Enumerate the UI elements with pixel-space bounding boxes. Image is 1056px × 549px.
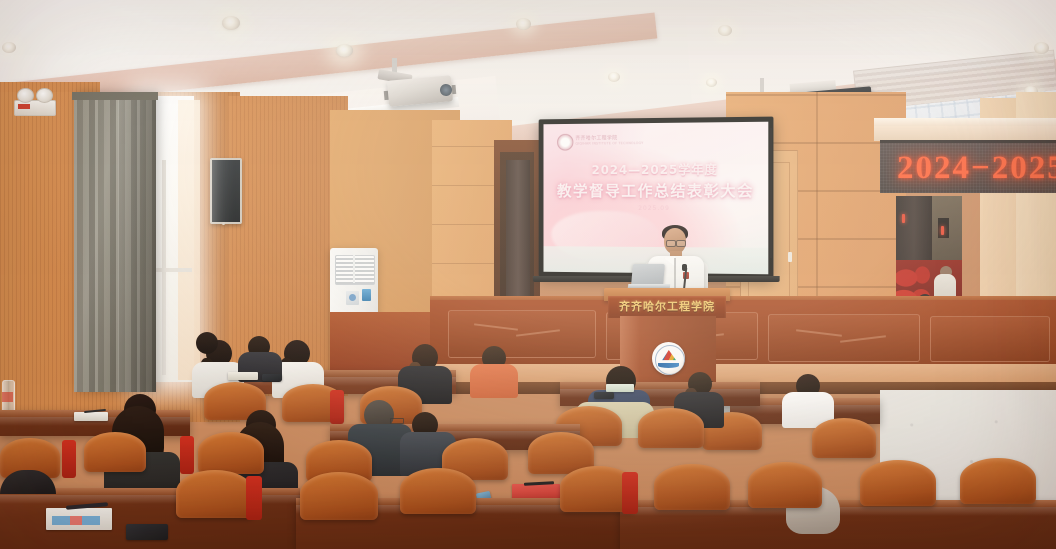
projection-screen: 齐齐哈尔工程学院 QIQIHAR INSTITUTE OF TECHNOLOGY… [539,117,774,280]
microphone-icon [682,264,687,271]
seat[interactable] [400,468,476,514]
seat[interactable] [960,458,1036,504]
seat-side-panel [62,440,76,478]
downlight-icon [516,18,531,30]
seat[interactable] [812,418,876,458]
projection-screen-surface: 齐齐哈尔工程学院 QIQIHAR INSTITUTE OF TECHNOLOGY… [543,122,768,275]
notebook [606,384,634,392]
screen-title-line1: 2024—2025学年度 [543,160,768,178]
glasses-icon [676,240,686,247]
stage-front-wall [430,300,1056,366]
seat[interactable] [748,462,822,508]
ac-grille-divider [353,255,355,283]
notebook [74,412,108,421]
emergency-lamp-icon [36,88,53,103]
downlight-icon [2,42,16,53]
seat[interactable] [654,464,730,510]
exit-led-icon [941,226,944,235]
downlight-icon [608,72,620,82]
screen-cable [770,128,772,258]
downlight-icon [718,25,732,36]
conference-hall-photo: 齐齐哈尔工程学院 QIQIHAR INSTITUTE OF TECHNOLOGY… [0,0,1056,549]
person-head [196,332,218,354]
exit-led-icon [902,214,905,223]
notebook-cover-art [52,516,100,525]
ac-energy-label [362,289,371,301]
curtain-rail [72,92,158,100]
led-banner-text: 2024−2025 [897,150,1056,187]
seat[interactable] [638,408,704,448]
notebook [228,372,258,380]
wall-panel-indicator [222,222,225,225]
podium-sign-text: 齐齐哈尔工程学院 [608,298,726,314]
seat[interactable] [300,472,378,520]
ac-logo-icon [349,294,356,301]
seat[interactable] [176,470,254,518]
school-logo-icon [557,134,573,151]
led-banner: 2024−2025 [880,140,1056,193]
stage-panel [930,316,1050,362]
seat[interactable] [84,432,146,472]
curtain-fold [118,92,156,392]
downlight-icon [336,44,353,57]
laptop-screen [631,264,665,286]
screen-title-line2: 教学督导工作总结表彰大会 [543,180,768,201]
ac-grille [335,255,375,285]
person-body [470,364,518,398]
emergency-lamp-icon [17,88,34,103]
door-handle[interactable] [788,252,792,262]
seat-side-panel [622,472,638,514]
stage-panel [768,314,920,362]
phone [262,374,282,381]
phone [594,392,614,399]
podium-nameplate: 齐齐哈尔工程学院 [608,296,726,318]
downlight-icon [706,78,717,87]
seat[interactable] [198,432,264,474]
stage-skirt [430,364,1056,384]
screen-date: 2025.09 [543,205,768,212]
phone [126,524,168,540]
downlight-icon [1034,42,1049,54]
crest-wave [658,363,679,368]
bottle-label [2,392,13,402]
glasses-icon [390,418,404,424]
emergency-light-label [18,104,30,109]
seat-side-panel [330,390,344,424]
glasses-icon [666,240,676,247]
wall-mounted-panel [210,158,242,224]
downlight-icon [222,16,240,30]
school-crest-sail-logo-icon [652,342,685,375]
seat-side-panel [246,476,262,520]
seat-side-panel [180,436,194,474]
seat[interactable] [860,460,936,506]
led-shelf [874,126,1056,141]
screen-org-name-pinyin: QIQIHAR INSTITUTE OF TECHNOLOGY [575,141,643,146]
